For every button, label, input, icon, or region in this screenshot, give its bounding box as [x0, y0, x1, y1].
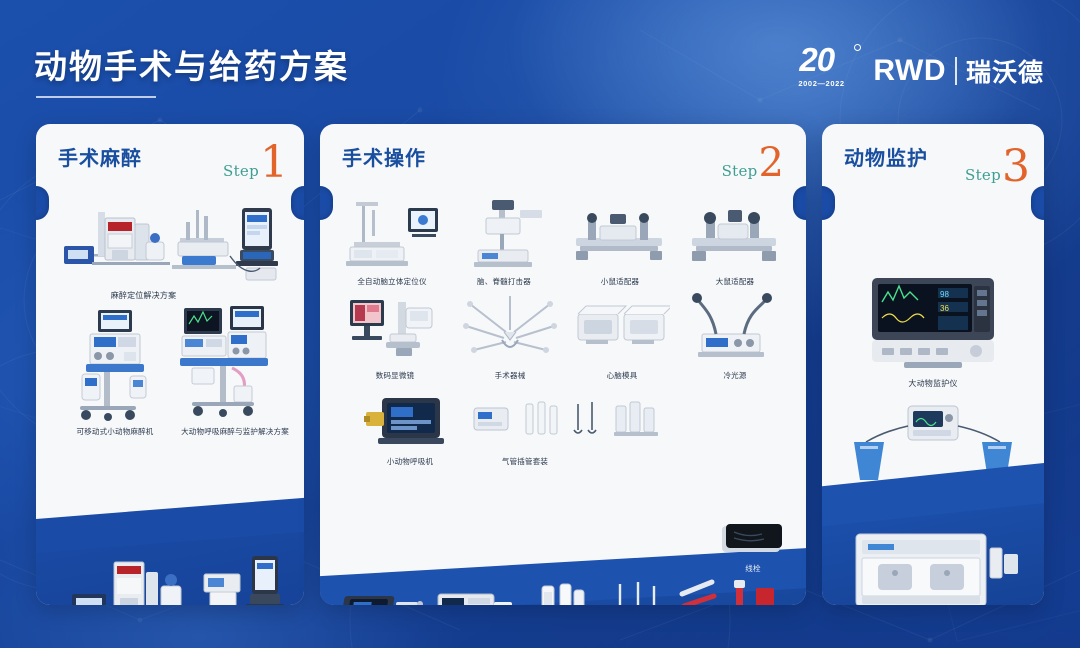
card3-step-badge: Step 3 [965, 150, 1030, 184]
product-image-stereotaxic-instrument [342, 198, 442, 272]
product-image-glass-microelectrode-pump [338, 586, 424, 605]
product-image-standard-anesthesia-solution [58, 552, 284, 605]
brand-divider [955, 57, 957, 85]
product-image-tracheal-intubation-kit [470, 390, 670, 452]
page-title: 动物手术与给药方案 [34, 40, 349, 88]
poster-canvas: 动物手术与给药方案 20 2002—2022 RWD 瑞沃德 手术麻醉 Step… [0, 0, 1080, 648]
product-image-small-animal-ventilator [360, 390, 460, 452]
product-image-micro-injection-pump [432, 586, 516, 605]
card2-item5-label: 手术器械 [456, 370, 564, 381]
card2-item1-label: 脑、脊髓打击器 [448, 276, 560, 287]
card2-item2-label: 小鼠适配器 [568, 276, 672, 287]
card-animal-monitoring[interactable]: 动物监护 Step 3 98 36 [822, 124, 1044, 605]
card1-item2-label: 大动物呼吸麻醉与监护解决方案 [166, 426, 304, 437]
card-surgical-operation[interactable]: 手术操作 Step 2 [320, 124, 806, 605]
product-image-digital-microscope [346, 294, 446, 360]
card3-item0-label: 大动物监护仪 [822, 378, 1044, 389]
brand-logo: 20 2002—2022 RWD 瑞沃德 [797, 42, 1044, 100]
card3-step-word: Step [965, 166, 1001, 184]
card3-title: 动物监护 [844, 142, 928, 171]
card2-header: 手术操作 Step 2 [320, 124, 806, 194]
product-image-blood-sampling-catheter [678, 572, 774, 605]
product-image-large-animal-ventilator-monitor [176, 302, 294, 424]
card1-step-word: Step [223, 162, 259, 180]
product-image-peristaltic-pump [534, 582, 590, 605]
card1-title: 手术麻醉 [58, 142, 142, 171]
card2-item6-label: 心脑模具 [570, 370, 674, 381]
product-image-rat-adapter [684, 206, 784, 268]
product-image-heart-brain-mold [574, 298, 670, 358]
card2-item0-label: 全自动脑立体定位仪 [332, 276, 452, 287]
card2-item9-label: 气管插管套装 [470, 456, 580, 467]
product-image-dosing-cannula [608, 578, 666, 605]
poster-header: 动物手术与给药方案 20 2002—2022 RWD 瑞沃德 [0, 0, 1080, 124]
card2-step-number: 2 [759, 146, 784, 180]
card2-item7-label: 冷光源 [680, 370, 790, 381]
card2-item8-label: 小动物呼吸机 [354, 456, 466, 467]
brand-latin: RWD [873, 54, 946, 88]
product-image-large-animal-monitor: 98 36 [868, 276, 998, 370]
card3-body: 98 36 [822, 194, 1044, 605]
product-image-mobile-anesthesia-machine [60, 306, 170, 424]
product-image-cold-light-source [686, 292, 784, 362]
product-image-suture-thread [718, 518, 788, 562]
card1-header: 手术麻醉 Step 1 [36, 124, 304, 194]
card1-step-number: 1 [260, 146, 288, 180]
card2-title: 手术操作 [342, 142, 426, 171]
card2-step-badge: Step 2 [722, 146, 784, 180]
card2-item15-label: 线栓 [718, 563, 788, 574]
card3-header: 动物监护 Step 3 [822, 124, 1044, 194]
card-surgical-anesthesia[interactable]: 手术麻醉 Step 1 [36, 124, 304, 605]
brand-chinese: 瑞沃德 [966, 53, 1044, 89]
product-image-mouse-adapter [570, 208, 668, 268]
product-image-surgical-instruments [460, 292, 560, 362]
svg-text:98: 98 [940, 290, 949, 299]
product-image-anesthesia-workstation [848, 528, 1024, 605]
brand-wordmark: RWD 瑞沃德 [873, 53, 1044, 89]
product-image-impactor [458, 196, 548, 272]
title-underline [36, 96, 156, 98]
card2-step-word: Step [722, 162, 758, 180]
anniversary-years: 2002—2022 [797, 79, 863, 88]
card3-step-number: 3 [1002, 150, 1030, 184]
anniversary-mark: 20 2002—2022 [797, 43, 863, 99]
svg-text:36: 36 [940, 304, 949, 313]
card1-body: 麻醉定位解决方案 [36, 194, 304, 605]
card2-item4-label: 数码显微镜 [340, 370, 450, 381]
card1-item0-label: 麻醉定位解决方案 [36, 290, 251, 301]
card2-item3-label: 大鼠适配器 [680, 276, 790, 287]
product-image-anesthesia-stereotaxic [46, 202, 294, 284]
card2-body: 全自动脑立体定位仪 脑、脊髓打击器 小鼠适配器 大鼠适配器 [320, 194, 806, 605]
card1-step-badge: Step 1 [223, 146, 288, 180]
